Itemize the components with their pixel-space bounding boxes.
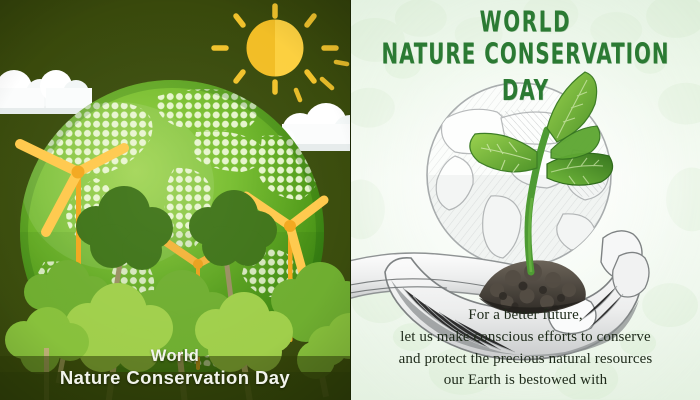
cloud-icon <box>0 70 94 114</box>
left-illustration <box>0 0 350 400</box>
right-quote: For a better future, let us make conscio… <box>351 305 700 392</box>
right-poster-panel: WORLD NATURE CONSERVATION DAY <box>350 0 700 400</box>
left-caption-line1: World <box>0 346 350 366</box>
right-title: WORLD NATURE CONSERVATION DAY <box>351 0 700 99</box>
left-caption: World Nature Conservation Day <box>0 346 350 390</box>
right-quote-line4: our Earth is bestowed with <box>351 370 700 392</box>
poster-collage: World Nature Conservation Day <box>0 0 700 400</box>
left-poster-panel: World Nature Conservation Day <box>0 0 350 400</box>
right-quote-line3: and protect the precious natural resourc… <box>351 349 700 371</box>
right-title-line1: WORLD <box>372 4 679 40</box>
sun-icon <box>214 6 347 100</box>
left-caption-line2: Nature Conservation Day <box>0 367 350 390</box>
right-quote-line1: For a better future, <box>351 305 700 327</box>
right-title-line2: NATURE CONSERVATION DAY <box>372 36 679 108</box>
right-quote-line2: let us make conscious efforts to conserv… <box>351 327 700 349</box>
